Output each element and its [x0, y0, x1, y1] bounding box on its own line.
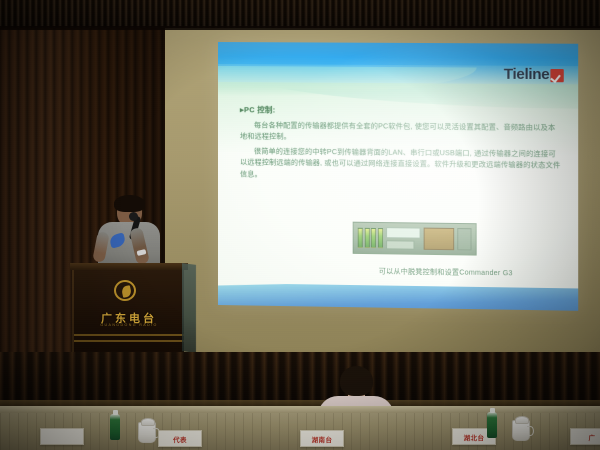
valance-ribs	[0, 0, 600, 28]
vu-meter-bar	[358, 228, 363, 248]
slide-paragraph-1: 每台各种配置的传输器都提供有全套的PC软件包, 使您可以灵活设置其配置、音频路由…	[240, 120, 562, 146]
vu-meter-bar	[364, 228, 369, 248]
device-display-panel	[386, 227, 421, 239]
commander-g3-software-screenshot	[353, 222, 477, 256]
audience-head	[340, 366, 373, 396]
water-bottle	[110, 414, 120, 440]
stage-front-ribs	[0, 352, 600, 406]
delegate-namecard	[40, 428, 84, 445]
podium: 广东电台 GUANGDONG RADIO	[72, 268, 184, 352]
figure-caption: 可以从中脱凳控制和设置Commander G3	[337, 266, 556, 279]
podium-stripe	[74, 334, 184, 336]
lidded-teacup	[138, 422, 156, 443]
device-status-panel	[423, 228, 454, 251]
podium-title-en: GUANGDONG RADIO	[74, 323, 184, 327]
projected-slide: Tieline ▸PC 控制: 每台各种配置的传输器都提供有全套的PC软件包, …	[218, 42, 578, 311]
delegate-namecard: 代表	[158, 430, 202, 447]
microphone-head-icon	[129, 212, 138, 221]
lidded-teacup	[512, 420, 530, 441]
slide-body: ▸PC 控制: 每台各种配置的传输器都提供有全套的PC软件包, 使您可以灵活设置…	[240, 104, 562, 187]
presenter-hair	[114, 195, 145, 212]
tieline-logo-text: Tieline	[504, 66, 550, 84]
vu-meters	[358, 228, 383, 248]
presenter	[95, 198, 163, 272]
device-info-panel	[457, 228, 472, 250]
delegate-namecard: 湖南台	[300, 430, 344, 447]
conference-room-photo: Tieline ▸PC 控制: 每台各种配置的传输器都提供有全套的PC软件包, …	[0, 0, 600, 450]
vu-meter-bar	[371, 228, 376, 248]
delegate-namecard: 广	[570, 428, 600, 445]
water-bottle	[487, 412, 497, 438]
tieline-logo: Tieline	[504, 66, 564, 84]
slide-heading: ▸PC 控制:	[240, 104, 562, 118]
stage-front-wall	[0, 352, 600, 406]
checkmark-square-icon	[550, 69, 563, 82]
podium-top	[70, 263, 188, 270]
table-edge	[0, 406, 600, 413]
podium-side-panel	[182, 263, 196, 353]
ceiling-valance	[0, 0, 600, 28]
vu-meter-bar	[377, 228, 382, 248]
device-button-row	[386, 240, 414, 249]
podium-stripe	[74, 340, 184, 342]
slide-paragraph-2: 很简单的连接您的中转PC到传输器背面的LAN、串行口或USB端口, 通过传输器之…	[240, 146, 562, 184]
valance-edge	[0, 26, 600, 30]
guangdong-radio-logo-icon	[114, 280, 136, 301]
